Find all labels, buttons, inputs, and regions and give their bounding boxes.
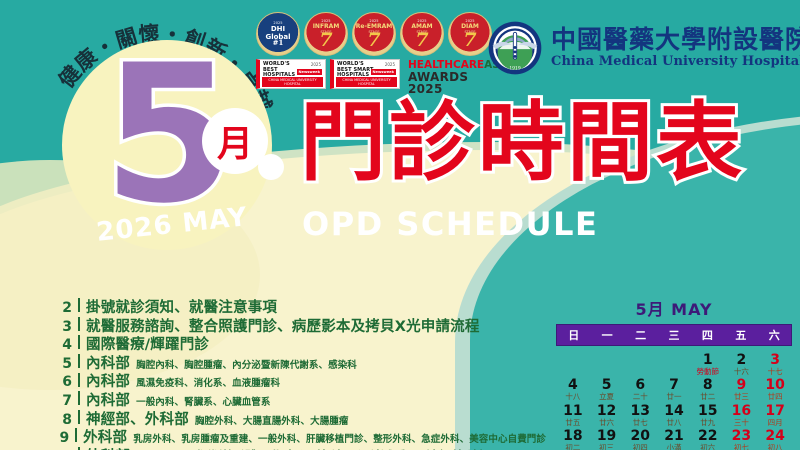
calendar-day-number: 21 — [657, 428, 691, 444]
calendar-day-cell[interactable]: 19初三 — [590, 428, 624, 450]
index-subspecialties: 一般內科、腎臟系、心臟血管系 — [136, 394, 270, 408]
badge-year: 2025 — [273, 22, 282, 26]
hospital-name-en: China Medical University Hospital — [551, 54, 800, 69]
calendar-day-number: 3 — [758, 352, 792, 368]
page-title-en: OPD SCHEDULE — [302, 205, 598, 243]
badge-value: #1 — [273, 40, 284, 45]
calendar-day-number: 2 — [725, 352, 759, 368]
newsweek-badge: WORLD'SBESTHOSPITALS2025Newsweekstatista… — [256, 59, 326, 89]
calendar-day-cell[interactable]: 5立夏 — [590, 377, 624, 401]
badge-year: 2025 — [417, 20, 426, 24]
calendar-weekday: 日 — [557, 325, 590, 345]
index-row[interactable]: 5內科部胸腔內科、胸腔腫瘤、內分泌暨新陳代謝系、感染科 — [46, 352, 546, 371]
index-subspecialties: 乳房外科、乳房腫瘤及重建、一般外科、肝臟移植門診、整形外科、急症外科、美容中心自… — [133, 431, 546, 445]
calendar-day-cell[interactable]: 4十八 — [556, 377, 590, 401]
calendar-lunar-label: 三十 — [725, 419, 759, 427]
calendar-day-cell[interactable]: 6二十 — [623, 377, 657, 401]
calendar-day-cell[interactable]: 16三十 — [725, 403, 759, 427]
calendar-day-grid: 1勞動節2十六3十七4十八5立夏6二十7廿一8廿二9廿三10廿四11廿五12廿六… — [556, 352, 792, 450]
hospital-identity: 1919 中國醫藥大學附設醫院 China Medical University… — [487, 20, 800, 76]
caduceus-circle-logo: 1919 — [487, 20, 543, 76]
badge-value: 7 — [415, 33, 428, 48]
index-highlight: 國際代謝形體醫學中心(外科及內科減重)、神經外科部 — [180, 446, 491, 450]
calendar-day-number: 17 — [758, 403, 792, 419]
calendar-day-cell[interactable]: 14廿八 — [657, 403, 691, 427]
calendar-day-number: 23 — [725, 428, 759, 444]
badge-hospital: CHINA MEDICAL UNIVERSITY HOSPITAL — [262, 77, 323, 87]
svg-text:1919: 1919 — [509, 65, 521, 71]
index-page-number: 3 — [46, 319, 72, 335]
calendar-lunar-label: 初六 — [691, 444, 725, 450]
hospital-name-cn: 中國醫藥大學附設醫院 — [551, 27, 800, 53]
calendar-lunar-label: 廿五 — [556, 419, 590, 427]
calendar-lunar-label: 小滿 — [657, 444, 691, 450]
index-page-number: 2 — [46, 300, 72, 316]
calendar-lunar-label: 二十 — [623, 393, 657, 401]
calendar-day-number: 22 — [691, 428, 725, 444]
opd-schedule-poster: 健康・關懷・創新・卓越 5 月 2026 MAY 2025DHIGlobal#1… — [0, 0, 800, 450]
calendar-lunar-label: 初八 — [758, 444, 792, 450]
calendar-weekday: 一 — [590, 325, 623, 345]
calendar-weekday: 二 — [624, 325, 657, 345]
calendar-title: 5月 MAY — [556, 296, 792, 320]
calendar-weekday: 四 — [691, 325, 724, 345]
calendar-day-number: 24 — [758, 428, 792, 444]
index-divider — [78, 373, 80, 387]
calendar-day-cell[interactable]: 22初六 — [691, 428, 725, 450]
calendar-day-number: 13 — [623, 403, 657, 419]
index-row[interactable]: 4國際醫療/輝躍門診 — [46, 333, 546, 352]
index-subspecialties: 胸腔外科、大腸直腸外科、大腸腫瘤 — [195, 413, 349, 427]
calendar-lunar-label: 初七 — [725, 444, 759, 450]
index-page-number: 5 — [46, 356, 72, 372]
calendar-lunar-label: 廿四 — [758, 393, 792, 401]
calendar-day-cell[interactable]: 18初二 — [556, 428, 590, 450]
calendar-day-number: 20 — [623, 428, 657, 444]
badge-brand: Newsweek — [371, 69, 397, 75]
index-page-number: 7 — [46, 393, 72, 409]
calendar-day-cell[interactable]: 11廿五 — [556, 403, 590, 427]
ha-line1: HEALTHCAREASiA — [408, 60, 494, 71]
calendar-lunar-label: 廿七 — [623, 419, 657, 427]
index-row[interactable]: 10外科部心臟外科國際代謝形體醫學中心(外科及內科減重)、神經外科部 — [46, 445, 546, 450]
month-dot-decoration — [258, 154, 284, 180]
calendar-day-cell[interactable]: 24初八 — [758, 428, 792, 450]
badge-year: 2025 — [385, 62, 395, 67]
calendar-lunar-label: 初三 — [590, 444, 624, 450]
index-divider — [78, 298, 80, 312]
badge-brand: Newsweek — [297, 69, 323, 75]
badge-year: 2025 — [311, 62, 321, 67]
award-circle-badge: 2025DHIGlobal#1 — [256, 12, 300, 56]
index-divider — [78, 410, 80, 424]
calendar-day-cell[interactable]: 23初七 — [725, 428, 759, 450]
badge-value: 7 — [367, 33, 380, 48]
calendar-day-number: 11 — [556, 403, 590, 419]
index-divider — [78, 354, 80, 368]
calendar-day-cell[interactable]: 9廿三 — [725, 377, 759, 401]
index-department: 外科部 — [86, 445, 130, 450]
calendar-weekday: 六 — [758, 325, 791, 345]
healthcare-asia-awards-badge: HEALTHCAREASiAAWARDS 2025 — [408, 60, 494, 96]
calendar-lunar-label: 廿八 — [657, 419, 691, 427]
index-page-number: 9 — [46, 430, 69, 446]
calendar-lunar-label: 初二 — [556, 444, 590, 450]
calendar-lunar-label: 初四 — [623, 444, 657, 450]
calendar-day-number: 18 — [556, 428, 590, 444]
calendar-lunar-label: 十八 — [556, 393, 590, 401]
index-page-number: 4 — [46, 337, 72, 353]
award-circle-badge: 2025DIAMSTAGE7 — [448, 12, 492, 56]
award-circle-badge: 2025AMAMSTAGE7 — [400, 12, 444, 56]
index-row[interactable]: 2掛號就診須知、就醫注意事項 — [46, 296, 546, 315]
index-row[interactable]: 3就醫服務諮詢、整合照護門診、病歷影本及拷貝X光申請流程 — [46, 315, 546, 334]
index-subspecialties: 風濕免疫科、消化系、血液腫瘤科 — [136, 375, 280, 389]
index-row[interactable]: 7內科部一般內科、腎臟系、心臟血管系 — [46, 389, 546, 408]
calendar-day-cell[interactable]: 7廿一 — [657, 377, 691, 401]
index-divider — [75, 428, 77, 442]
calendar-lunar-label: 廿三 — [725, 393, 759, 401]
badge-value: 7 — [319, 33, 332, 48]
calendar-day-cell[interactable]: 10廿四 — [758, 377, 792, 401]
calendar-day-number: 1 — [691, 352, 725, 368]
calendar-day-cell[interactable]: 8廿二 — [691, 377, 725, 401]
calendar-day-number: 16 — [725, 403, 759, 419]
calendar-lunar-label: 立夏 — [590, 393, 624, 401]
calendar-day-number: 15 — [691, 403, 725, 419]
index-subspecialties: 胸腔內科、胸腔腫瘤、內分泌暨新陳代謝系、感染科 — [136, 357, 357, 371]
badge-year: 2025 — [465, 20, 474, 24]
award-circle-badge: 2025Re-EMRAMSTAGE7 — [352, 12, 396, 56]
badge-value: 7 — [463, 33, 476, 48]
calendar-lunar-label: 十六 — [725, 368, 759, 376]
index-divider — [78, 335, 80, 349]
calendar-lunar-label: 廿六 — [590, 419, 624, 427]
calendar-day-number: 12 — [590, 403, 624, 419]
index-page-number: 6 — [46, 374, 72, 390]
index-page-number: 8 — [46, 412, 72, 428]
index-divider — [78, 391, 80, 405]
ha-line2: AWARDS 2025 — [408, 71, 494, 96]
badge-year: 2025 — [369, 20, 378, 24]
index-row[interactable]: 8神經部、外科部胸腔外科、大腸直腸外科、大腸腫瘤 — [46, 408, 546, 427]
calendar-day-number: 14 — [657, 403, 691, 419]
calendar-lunar-label: 四月 — [758, 419, 792, 427]
badge-year: 2025 — [321, 20, 330, 24]
award-circle-badge: 2025INFRAMSTAGE7 — [304, 12, 348, 56]
calendar-day-cell[interactable]: 15廿九 — [691, 403, 725, 427]
award-badges: 2025DHIGlobal#12025INFRAMSTAGE72025Re-EM… — [256, 12, 496, 92]
calendar-day-cell[interactable]: 3十七 — [758, 352, 792, 376]
calendar-day-cell[interactable]: 13廿七 — [623, 403, 657, 427]
calendar-day-cell[interactable]: 20初四 — [623, 428, 657, 450]
calendar-day-cell[interactable]: 12廿六 — [590, 403, 624, 427]
calendar-lunar-label: 廿二 — [691, 393, 725, 401]
index-row[interactable]: 9外科部乳房外科、乳房腫瘤及重建、一般外科、肝臟移植門診、整形外科、急症外科、美… — [46, 426, 546, 445]
calendar-weekday-header: 日一二三四五六 — [556, 324, 792, 346]
calendar-lunar-label: 勞動節 — [691, 368, 725, 376]
calendar-lunar-label: 十七 — [758, 368, 792, 376]
page-title-cn: 門診時間表 — [300, 100, 745, 186]
calendar-day-cell[interactable]: 21小滿 — [657, 428, 691, 450]
calendar-day-cell[interactable]: 1勞動節 — [691, 352, 725, 376]
calendar-lunar-label: 廿一 — [657, 393, 691, 401]
calendar-day-cell[interactable]: 17四月 — [758, 403, 792, 427]
month-calendar: 5月 MAY 日一二三四五六 1勞動節2十六3十七4十八5立夏6二十7廿一8廿二… — [556, 296, 792, 450]
newsweek-badge: WORLD'SBEST SMARTHOSPITALS2025Newsweekst… — [330, 59, 400, 89]
calendar-weekday: 五 — [724, 325, 757, 345]
calendar-day-number: 19 — [590, 428, 624, 444]
calendar-day-cell[interactable]: 2十六 — [725, 352, 759, 376]
badge-hospital: CHINA MEDICAL UNIVERSITY HOSPITAL — [336, 77, 397, 87]
index-row[interactable]: 6內科部風濕免疫科、消化系、血液腫瘤科 — [46, 370, 546, 389]
department-index-list: 2掛號就診須知、就醫注意事項3就醫服務諮詢、整合照護門診、病歷影本及拷貝X光申請… — [46, 296, 546, 450]
index-divider — [78, 317, 80, 331]
calendar-lunar-label: 廿九 — [691, 419, 725, 427]
calendar-weekday: 三 — [657, 325, 690, 345]
